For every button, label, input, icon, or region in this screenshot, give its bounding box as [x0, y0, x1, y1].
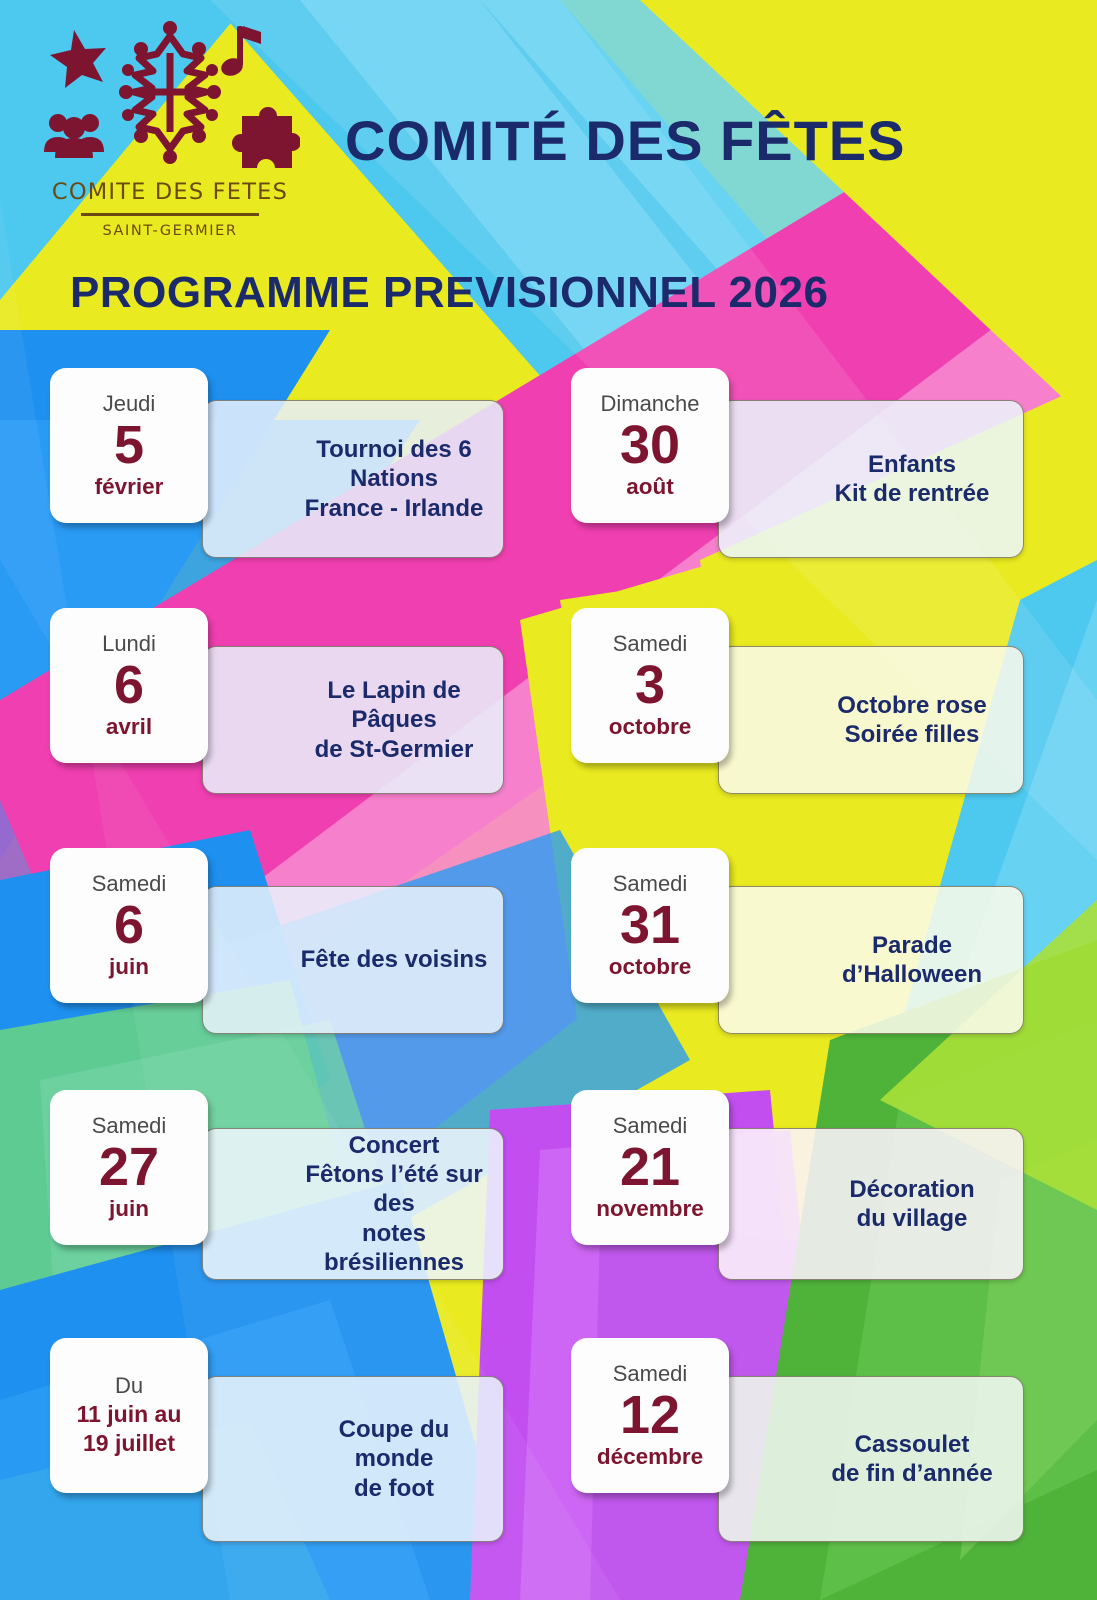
date-weekday: Samedi — [92, 872, 167, 895]
date-day-number: 5 — [114, 417, 144, 474]
event-title: Tournoi des 6 Nations France - Irlande — [299, 435, 489, 523]
date-month: décembre — [597, 1445, 703, 1470]
date-weekday: Dimanche — [600, 392, 699, 415]
date-card-decoration-du-village[interactable]: Samedi21novembre — [571, 1090, 729, 1245]
event-title: Concert Fêtons l’été sur des notes brési… — [299, 1131, 489, 1277]
date-day-number: 31 — [620, 897, 680, 954]
date-card-cassoulet-fin-annee[interactable]: Samedi12décembre — [571, 1338, 729, 1493]
event-card-tournoi-6-nations[interactable]: Tournoi des 6 Nations France - Irlande — [202, 400, 504, 558]
date-weekday: Samedi — [613, 872, 688, 895]
date-weekday: Samedi — [92, 1114, 167, 1137]
date-day-number: 30 — [620, 417, 680, 474]
event-card-decoration-du-village[interactable]: Décoration du village — [718, 1128, 1024, 1280]
date-weekday: Samedi — [613, 1362, 688, 1385]
date-day-number: 6 — [114, 897, 144, 954]
date-day-number: 21 — [620, 1139, 680, 1196]
date-card-tournoi-6-nations[interactable]: Jeudi5février — [50, 368, 208, 523]
event-title: Octobre rose Soirée filles — [837, 691, 986, 750]
date-card-octobre-rose[interactable]: Samedi3octobre — [571, 608, 729, 763]
date-month: août — [626, 475, 674, 500]
date-month: octobre — [609, 955, 692, 980]
date-card-fete-des-voisins[interactable]: Samedi6juin — [50, 848, 208, 1003]
date-card-concert-bresilien[interactable]: Samedi27juin — [50, 1090, 208, 1245]
event-card-enfants-kit-de-rentree[interactable]: Enfants Kit de rentrée — [718, 400, 1024, 558]
date-weekday: Lundi — [102, 632, 156, 655]
event-title: Le Lapin de Pâques de St-Germier — [299, 676, 489, 764]
date-day-number: 6 — [114, 657, 144, 714]
date-range-line-2: 19 juillet — [83, 1429, 175, 1458]
event-title: Décoration du village — [849, 1175, 974, 1234]
event-grid: Tournoi des 6 Nations France - IrlandeJe… — [0, 0, 1097, 1600]
event-title: Fête des voisins — [301, 945, 488, 974]
date-month: juin — [109, 955, 149, 980]
date-weekday: Du — [115, 1374, 143, 1397]
event-card-lapin-de-paques[interactable]: Le Lapin de Pâques de St-Germier — [202, 646, 504, 794]
event-card-concert-bresilien[interactable]: Concert Fêtons l’été sur des notes brési… — [202, 1128, 504, 1280]
date-day-number: 3 — [635, 657, 665, 714]
date-card-enfants-kit-de-rentree[interactable]: Dimanche30août — [571, 368, 729, 523]
event-title: Enfants Kit de rentrée — [835, 450, 990, 509]
date-card-parade-halloween[interactable]: Samedi31octobre — [571, 848, 729, 1003]
poster-root: COMITE DES FETES SAINT-GERMIER COMITÉ DE… — [0, 0, 1097, 1600]
date-day-number: 12 — [620, 1387, 680, 1444]
event-title: Coupe du monde de foot — [299, 1415, 489, 1503]
date-weekday: Samedi — [613, 1114, 688, 1137]
date-range-line-1: 11 juin au — [77, 1400, 182, 1429]
date-month: avril — [106, 715, 152, 740]
date-month: octobre — [609, 715, 692, 740]
event-card-fete-des-voisins[interactable]: Fête des voisins — [202, 886, 504, 1034]
event-card-cassoulet-fin-annee[interactable]: Cassoulet de fin d’année — [718, 1376, 1024, 1542]
date-weekday: Samedi — [613, 632, 688, 655]
date-card-lapin-de-paques[interactable]: Lundi6avril — [50, 608, 208, 763]
date-weekday: Jeudi — [103, 392, 156, 415]
date-month: novembre — [596, 1197, 704, 1222]
event-card-octobre-rose[interactable]: Octobre rose Soirée filles — [718, 646, 1024, 794]
event-title: Cassoulet de fin d’année — [831, 1430, 992, 1489]
event-card-coupe-du-monde-de-foot[interactable]: Coupe du monde de foot — [202, 1376, 504, 1542]
date-month: février — [95, 475, 164, 500]
date-day-number: 27 — [99, 1139, 159, 1196]
event-title: Parade d’Halloween — [815, 931, 1009, 990]
date-month: juin — [109, 1197, 149, 1222]
date-card-coupe-du-monde-de-foot[interactable]: Du11 juin au19 juillet — [50, 1338, 208, 1493]
event-card-parade-halloween[interactable]: Parade d’Halloween — [718, 886, 1024, 1034]
